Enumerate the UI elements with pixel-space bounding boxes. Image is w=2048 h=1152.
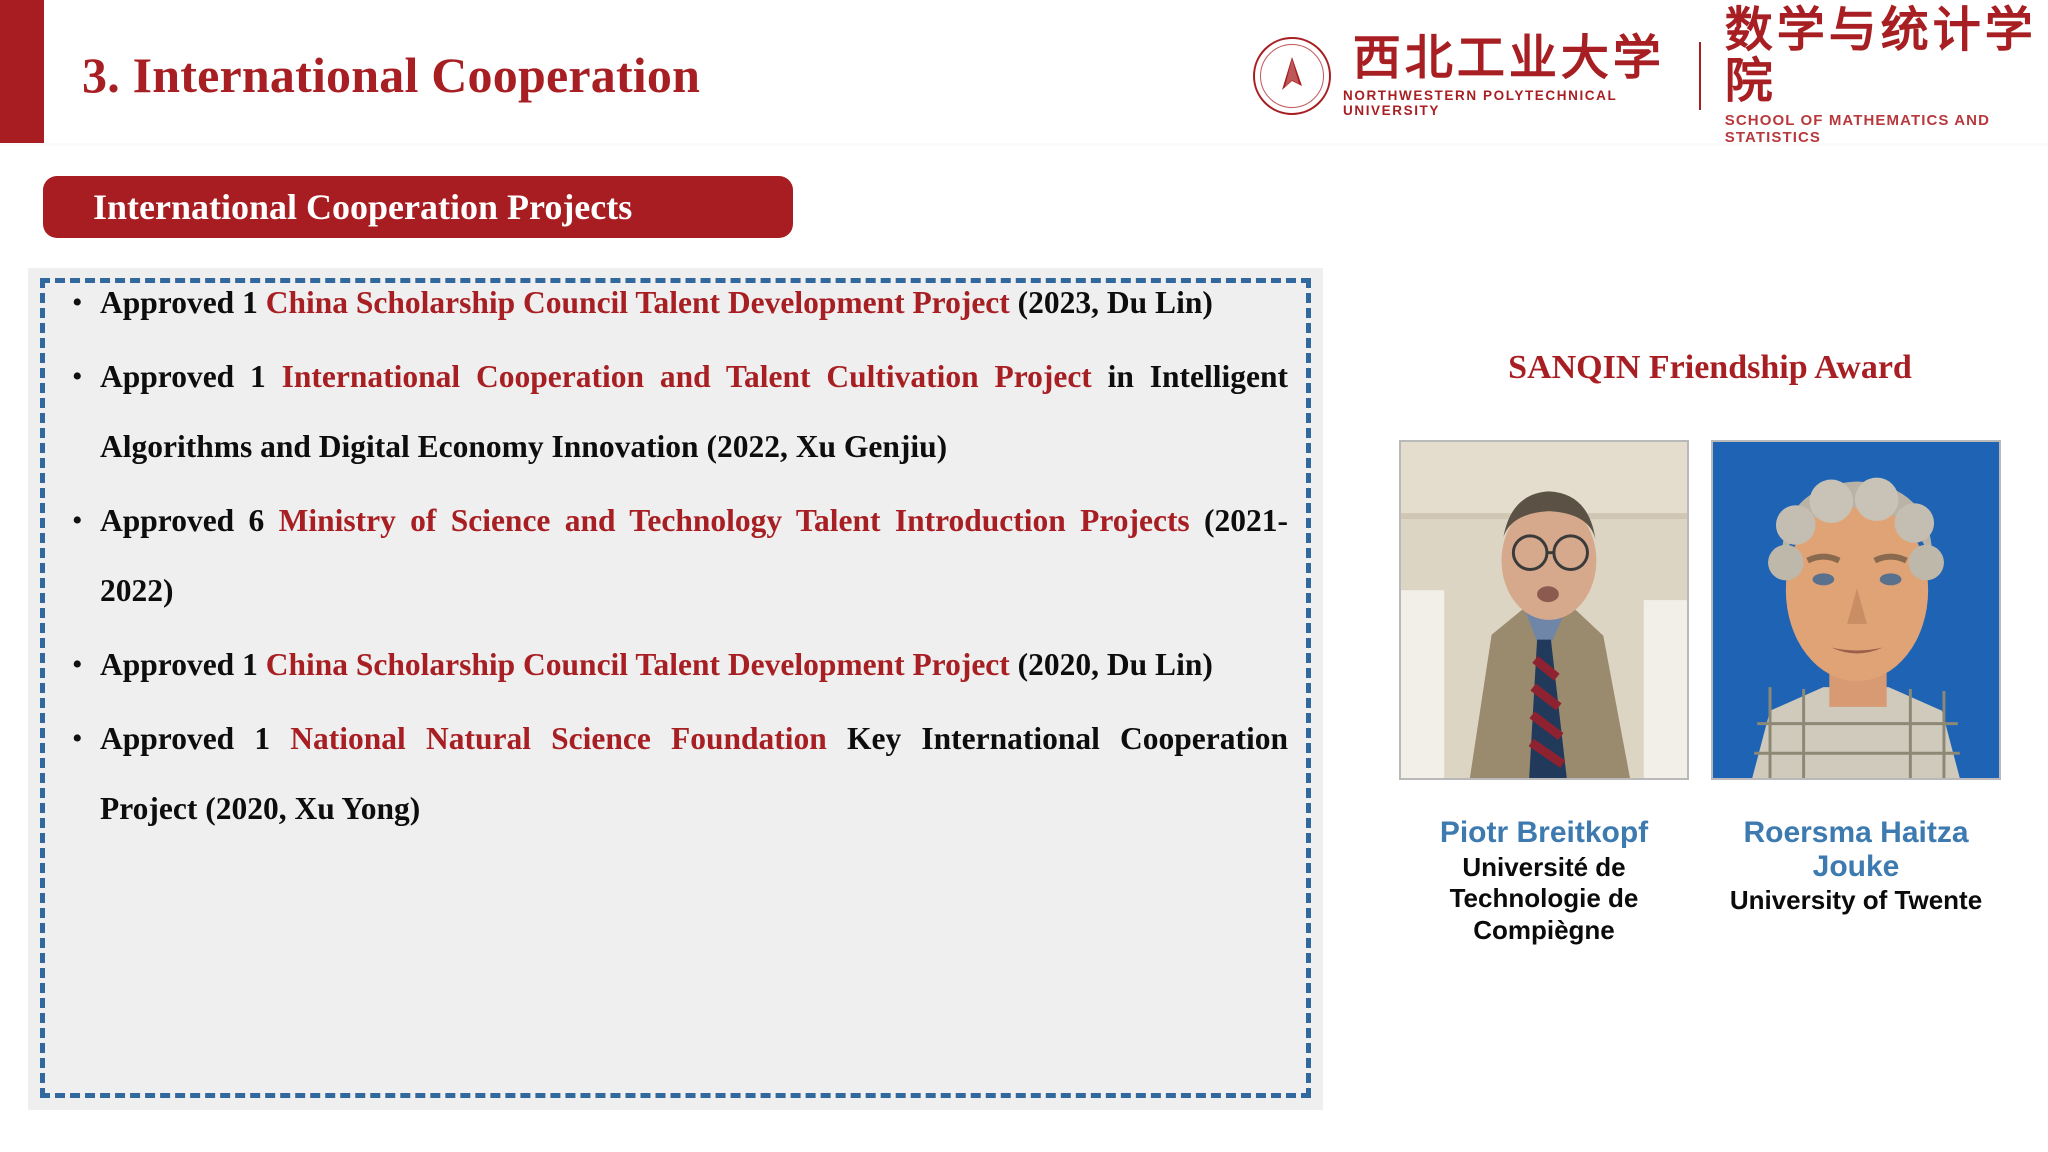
logo-divider <box>1699 42 1701 110</box>
project-bullet-text: Approved 1 China Scholarship Council Tal… <box>100 630 1288 700</box>
school-name-en: SCHOOL OF MATHEMATICS AND STATISTICS <box>1725 112 2048 146</box>
award-people-row: Piotr Breitkopf Université de Technologi… <box>1360 440 2040 947</box>
project-bullet-item: •Approved 6 Ministry of Science and Tech… <box>58 486 1288 626</box>
award-person-1: Roersma Haitza Jouke University of Twent… <box>1711 440 2001 947</box>
page-title: 3. International Cooperation <box>82 46 700 104</box>
bullet-dot-icon: • <box>58 630 100 700</box>
project-tail-text: (2020, Du Lin) <box>1010 647 1213 682</box>
projects-panel: •Approved 1 China Scholarship Council Ta… <box>28 268 1323 1110</box>
bullet-dot-icon: • <box>58 342 100 412</box>
award-title: SANQIN Friendship Award <box>1380 349 2040 387</box>
portrait-illustration-icon <box>1713 442 1999 778</box>
project-highlight-text: Ministry of Science and Technology Talen… <box>279 503 1190 538</box>
project-lead-text: Approved 6 <box>100 503 279 538</box>
university-name-cn: 西北工业大学 <box>1353 34 1665 84</box>
projects-bullet-list: •Approved 1 China Scholarship Council Ta… <box>58 268 1288 848</box>
project-bullet-text: Approved 1 National Natural Science Foun… <box>100 704 1288 844</box>
award-person-name: Roersma Haitza Jouke <box>1711 816 2001 883</box>
project-highlight-text: National Natural Science Foundation <box>290 721 827 756</box>
header-accent-bar <box>0 0 44 144</box>
school-name-cn: 数学与统计学院 <box>1725 6 2048 107</box>
university-name-block: 西北工业大学 NORTHWESTERN POLYTECHNICAL UNIVER… <box>1343 34 1675 118</box>
project-bullet-item: •Approved 1 National Natural Science Fou… <box>58 704 1288 844</box>
project-lead-text: Approved 1 <box>100 359 282 394</box>
project-highlight-text: International Cooperation and Talent Cul… <box>282 359 1092 394</box>
award-person-0: Piotr Breitkopf Université de Technologi… <box>1399 440 1689 947</box>
project-tail-text: (2023, Du Lin) <box>1010 285 1213 320</box>
project-bullet-item: •Approved 1 China Scholarship Council Ta… <box>58 268 1288 338</box>
university-logo: 西北工业大学 NORTHWESTERN POLYTECHNICAL UNIVER… <box>1253 30 2048 122</box>
section-banner-label: International Cooperation Projects <box>93 186 632 228</box>
project-lead-text: Approved 1 <box>100 285 266 320</box>
project-highlight-text: China Scholarship Council Talent Develop… <box>266 285 1010 320</box>
award-person-name: Piotr Breitkopf <box>1399 816 1689 850</box>
portrait-illustration-icon <box>1401 442 1687 778</box>
project-bullet-text: Approved 1 International Cooperation and… <box>100 342 1288 482</box>
seal-glyph-icon <box>1275 56 1309 96</box>
project-highlight-text: China Scholarship Council Talent Develop… <box>266 647 1010 682</box>
portrait-photo-piotr-breitkopf-icon <box>1399 440 1689 780</box>
project-bullet-text: Approved 6 Ministry of Science and Techn… <box>100 486 1288 626</box>
project-lead-text: Approved 1 <box>100 647 266 682</box>
award-person-affiliation: University of Twente <box>1711 885 2001 917</box>
bullet-dot-icon: • <box>58 486 100 556</box>
section-banner: International Cooperation Projects <box>43 176 793 238</box>
school-name-block: 数学与统计学院 SCHOOL OF MATHEMATICS AND STATIS… <box>1725 6 2048 146</box>
portrait-photo-roersma-haitza-jouke-icon <box>1711 440 2001 780</box>
university-name-en: NORTHWESTERN POLYTECHNICAL UNIVERSITY <box>1343 88 1675 118</box>
project-bullet-item: •Approved 1 International Cooperation an… <box>58 342 1288 482</box>
award-person-affiliation: Université de Technologie de Compiègne <box>1399 852 1689 947</box>
project-lead-text: Approved 1 <box>100 721 290 756</box>
bullet-dot-icon: • <box>58 268 100 338</box>
slide-root: 3. International Cooperation 西北工业大学 NORT… <box>0 0 2048 1152</box>
project-bullet-item: •Approved 1 China Scholarship Council Ta… <box>58 630 1288 700</box>
university-seal-icon <box>1253 37 1331 115</box>
project-bullet-text: Approved 1 China Scholarship Council Tal… <box>100 268 1288 338</box>
bullet-dot-icon: • <box>58 704 100 774</box>
